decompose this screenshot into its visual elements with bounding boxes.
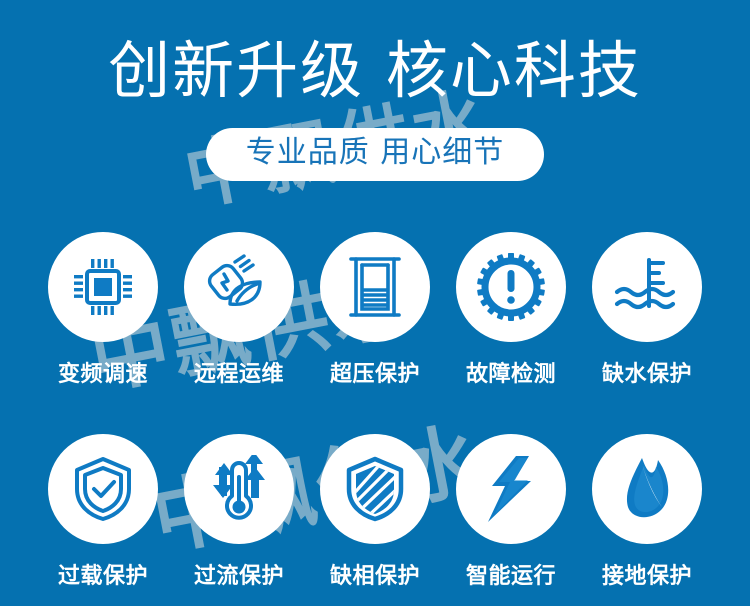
icon-circle [456,232,566,342]
plug-leaf-icon [204,254,274,320]
press-machine-icon [343,254,407,320]
feature-label: 变频调速 [58,356,148,388]
feature-label: 故障检测 [466,356,556,388]
icon-circle [592,434,702,544]
icon-circle [592,232,702,342]
page-title: 创新升级 核心科技 [0,38,750,103]
feature-label: 过载保护 [58,558,148,590]
feature-item-shield-check[interactable]: 过载保护 [46,434,161,590]
gear-alert-icon [477,253,545,321]
feature-label: 过流保护 [194,558,284,590]
feature-item-water-level[interactable]: 缺水保护 [590,232,705,388]
icon-circle [184,434,294,544]
subtitle-pill: 专业品质 用心细节 [206,128,545,181]
shield-check-icon [71,455,135,523]
water-level-icon [611,256,683,318]
feature-item-lightning-bolt[interactable]: 智能运行 [454,434,569,590]
icon-circle [320,232,430,342]
icon-circle [320,434,430,544]
lightning-bolt-icon [483,454,539,524]
feature-grid: 变频调速 远 [0,232,750,590]
feature-label: 远程运维 [194,356,284,388]
icon-circle [48,232,158,342]
feature-item-cpu-chip[interactable]: 变频调速 [46,232,161,388]
leaf-drop-icon [614,455,680,523]
subtitle-pill-container: 专业品质 用心细节 [0,128,750,181]
promo-banner: 中飘供水 中飘供水 中飘供水 创新升级 核心科技 专业品质 用心细节 [0,0,750,606]
feature-label: 超压保护 [330,356,420,388]
cpu-chip-icon [70,254,136,320]
feature-label: 智能运行 [466,558,556,590]
feature-item-thermometer-arrows[interactable]: 过流保护 [182,434,297,590]
feature-row: 变频调速 远 [0,232,750,388]
thermometer-arrows-icon [207,455,271,523]
feature-item-shield-striped[interactable]: 缺相保护 [318,434,433,590]
icon-circle [48,434,158,544]
feature-item-press-machine[interactable]: 超压保护 [318,232,433,388]
feature-label: 接地保护 [602,558,692,590]
feature-item-leaf-drop[interactable]: 接地保护 [590,434,705,590]
icon-circle [456,434,566,544]
feature-item-plug-leaf[interactable]: 远程运维 [182,232,297,388]
feature-row: 过载保护 [0,434,750,590]
feature-item-gear-alert[interactable]: 故障检测 [454,232,569,388]
icon-circle [184,232,294,342]
feature-label: 缺水保护 [602,356,692,388]
feature-label: 缺相保护 [330,558,420,590]
shield-striped-icon [343,455,407,523]
